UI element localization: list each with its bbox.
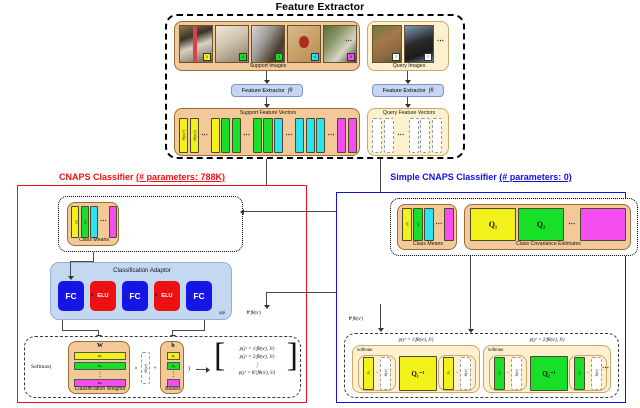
vector-ellipsis: ⋯ bbox=[327, 132, 336, 139]
connector-cov-down bbox=[470, 256, 471, 330]
support-image: 3 bbox=[251, 25, 285, 63]
query-vector-bar bbox=[372, 118, 382, 153]
feature-token: fθ(xᵗ) bbox=[511, 357, 522, 390]
left-class-means-caption: Class Means bbox=[68, 238, 120, 243]
mean-token: μ₂ bbox=[574, 357, 585, 390]
weight-row: w₁ bbox=[74, 352, 126, 360]
query-images-box: ? ? ⋯ Query Images bbox=[367, 21, 449, 71]
support-images-box: 1 2 3 4 5 ⋯ Support Images bbox=[174, 21, 360, 71]
bias-title: b bbox=[161, 343, 185, 349]
left-panel-title: CNAPS Classifier (# parameters: 788K) bbox=[17, 172, 267, 182]
classification-adaptor: Classification Adaptor ψϕ FC ELU FC ELU … bbox=[50, 262, 232, 320]
support-image: 4 bbox=[287, 25, 321, 63]
right-panel-title-params: (# parameters: 0) bbox=[499, 172, 572, 182]
probability-entry: p(yᵗ = 1|fθ(xᵗ), Sᵗ) bbox=[222, 347, 292, 352]
class-mean-ellipsis: ⋯ bbox=[435, 221, 443, 228]
query-vector-bar bbox=[420, 118, 430, 153]
probability-entry: p(yᵗ = Kᵗ|fθ(xᵗ), Sᵗ) bbox=[222, 371, 292, 376]
support-images-ellipsis: ⋯ bbox=[345, 38, 353, 45]
mean-token-label: μ₂ bbox=[577, 371, 581, 374]
weight-row: w₂ bbox=[74, 362, 126, 370]
class-mean-symbol: μ₂ bbox=[82, 220, 87, 224]
head-term-right: μ₂ − fθ(xᵗ) bbox=[569, 355, 607, 391]
support-vector-bar bbox=[263, 118, 272, 153]
left-probability-vector: [ ] p(yᵗ = 1|fθ(xᵗ), Sᵗ) p(yᵗ = 2|fθ(xᵗ)… bbox=[214, 344, 298, 392]
support-vector-bar bbox=[232, 118, 241, 153]
covariance-matrix bbox=[580, 208, 626, 241]
mean-token-label: μ₁ bbox=[446, 371, 450, 374]
right-head-block: softmax μ₂ − fθ(xᵗ) Q₂⁻¹ μ₂ − fθ(xᵗ) bbox=[483, 345, 611, 393]
query-images-caption: Query Images bbox=[368, 64, 450, 69]
query-vector-bar bbox=[384, 118, 394, 153]
minus-operator: − bbox=[375, 371, 378, 376]
query-feature-vectors-box: Query Feature Vectors ⋯ bbox=[367, 108, 449, 156]
right-class-means-caption: Class Means bbox=[398, 242, 458, 247]
right-panel-title-main: Simple CNAPS Classifier bbox=[390, 172, 499, 182]
mean-token: μ₁ bbox=[363, 357, 374, 390]
mean-token: μ₁ bbox=[443, 357, 454, 390]
support-vector-bar bbox=[295, 118, 304, 153]
mean-token-label: μ₂ bbox=[497, 371, 501, 374]
mean-token: μ₂ bbox=[494, 357, 505, 390]
softmax-close-paren: ) bbox=[188, 366, 190, 372]
left-softmax-label: Softmax( bbox=[31, 364, 51, 370]
query-feature-token-label: fθ(xᵗ) bbox=[143, 364, 148, 373]
left-panel-title-params: (# parameters: 788K) bbox=[136, 172, 225, 182]
right-head-equation: p(yᵗ = 1|fθ(xᵗ), Sᵗ) bbox=[356, 338, 476, 343]
right-class-means-box: μ₁ μ₂ ⋯ Class Means bbox=[397, 204, 457, 250]
biases-caption: Biases bbox=[161, 387, 185, 392]
support-vector-bar bbox=[253, 118, 262, 153]
support-feature-extractor-symbol: fθ bbox=[288, 88, 293, 94]
query-vector-bar bbox=[409, 118, 419, 153]
right-panel-title: Simple CNAPS Classifier (# parameters: 0… bbox=[336, 172, 626, 182]
support-feature-extractor-box: Feature Extractor fθ bbox=[231, 84, 303, 97]
minus-operator: − bbox=[506, 371, 509, 376]
support-feature-extractor-label: Feature Extractor bbox=[242, 88, 285, 94]
figure-title: Feature Extractor bbox=[0, 1, 640, 13]
support-vector-bar bbox=[221, 118, 230, 153]
query-image-badge: ? bbox=[424, 53, 432, 61]
support-vector-bar: fθ(x₂ˢ) bbox=[190, 118, 199, 153]
class-mean-symbol: μ₁ bbox=[404, 222, 409, 225]
right-forall-label: ∀ fθ(xᵗ) bbox=[348, 316, 363, 322]
support-vector-label: fθ(x₁ˢ) bbox=[181, 130, 186, 141]
query-vector-bar bbox=[432, 118, 442, 153]
weights-title: W bbox=[69, 343, 131, 349]
classification-adaptor-label: Classification Adaptor bbox=[51, 268, 233, 274]
class-mean-symbol: μ₁ bbox=[73, 220, 78, 223]
covariance-ellipsis: ⋯ bbox=[566, 221, 578, 228]
support-vector-bar bbox=[316, 118, 325, 153]
support-image: 2 bbox=[215, 25, 249, 63]
class-mean-bar bbox=[90, 206, 98, 238]
class-mean-ellipsis: ⋯ bbox=[100, 218, 108, 225]
support-image-badge: 4 bbox=[311, 53, 319, 61]
adaptor-fc-block: FC bbox=[58, 281, 84, 311]
class-mean-bar: μ₁ bbox=[402, 208, 412, 241]
query-feature-extractor-label: Feature Extractor bbox=[383, 88, 426, 94]
support-vector-bar: fθ(x₁ˢ) bbox=[179, 118, 188, 153]
query-feature-token: fθ(xᵗ) bbox=[141, 352, 150, 384]
support-images-caption: Support Images bbox=[175, 64, 361, 69]
class-mean-symbol: μ₂ bbox=[415, 222, 420, 226]
class-mean-bar: μ₁ bbox=[71, 206, 79, 238]
query-image: ? bbox=[404, 25, 434, 63]
covariance-matrix: Q₂ bbox=[518, 208, 564, 241]
class-mean-bar bbox=[109, 206, 117, 238]
bias-row: b₁ bbox=[167, 352, 180, 360]
probability-entry: p(yᵗ = 2|fθ(xᵗ), Sᵗ) bbox=[222, 355, 292, 360]
feature-token: fθ(xᵗ) bbox=[380, 357, 391, 390]
head-term-left: μ₂ − fθ(xᵗ) bbox=[489, 355, 527, 391]
support-vector-bar bbox=[337, 118, 346, 153]
support-vector-bar bbox=[348, 118, 357, 153]
head-term-left: μ₁ − fθ(xᵗ) bbox=[358, 355, 396, 391]
mean-token-label: μ₁ bbox=[366, 371, 370, 374]
class-covariance-box: Q₁ Q₂ ⋯ Class Covariance Estimates bbox=[464, 204, 631, 250]
feature-token: fθ(xᵗ) bbox=[591, 357, 602, 390]
class-covariance-caption: Class Covariance Estimates bbox=[465, 242, 632, 247]
class-mean-bar: μ₂ bbox=[413, 208, 423, 241]
classification-weights-box: W w₁ w₂ ⋮ wₖ Classification Weights bbox=[68, 341, 130, 394]
class-mean-bar: μ₂ bbox=[81, 206, 89, 238]
head-term-right: μ₁ − fθ(xᵗ) bbox=[438, 355, 476, 391]
query-image: ? bbox=[372, 25, 402, 63]
query-images-ellipsis: ⋯ bbox=[437, 38, 445, 45]
feature-token: fθ(xᵗ) bbox=[460, 357, 471, 390]
support-vector-bar bbox=[306, 118, 315, 153]
support-vector-bar bbox=[211, 118, 220, 153]
right-softmax-label: softmax bbox=[488, 348, 514, 352]
bias-row: b₂ bbox=[167, 362, 180, 370]
class-mean-bar bbox=[444, 208, 454, 241]
adaptor-symbol: ψϕ bbox=[219, 311, 225, 316]
support-image-badge: 2 bbox=[239, 53, 247, 61]
plus-operator: + bbox=[153, 366, 157, 372]
times-operator: × bbox=[134, 366, 138, 372]
support-vector-bar bbox=[274, 118, 283, 153]
query-feature-extractor-box: Feature Extractor fθ bbox=[372, 84, 444, 97]
support-feature-vectors-box: Support Feature Vectors fθ(x₁ˢ) fθ(x₂ˢ) … bbox=[174, 108, 360, 156]
inverse-covariance: Q₂⁻¹ bbox=[530, 356, 568, 391]
right-head-equation: p(yᵗ = 2|fθ(xᵗ), Sᵗ) bbox=[487, 338, 607, 343]
query-feature-extractor-symbol: fθ bbox=[429, 88, 434, 94]
minus-operator: − bbox=[455, 371, 458, 376]
support-image-badge: 1 bbox=[203, 53, 211, 61]
support-image-badge: 3 bbox=[275, 53, 283, 61]
left-forall-label: ∀ fθ(xᵗ) bbox=[246, 310, 261, 316]
feature-token-label: fθ(xᵗ) bbox=[464, 369, 468, 376]
right-softmax-label: softmax bbox=[357, 348, 383, 352]
support-vector-label: fθ(x₂ˢ) bbox=[192, 130, 197, 141]
covariance-matrix: Q₁ bbox=[470, 208, 516, 241]
left-class-means-box: μ₁ μ₂ ⋯ Class Means bbox=[67, 202, 119, 246]
vector-ellipsis: ⋯ bbox=[395, 132, 407, 139]
feature-token-label: fθ(xᵗ) bbox=[384, 369, 388, 376]
support-image: 1 bbox=[179, 25, 213, 63]
vector-ellipsis: ⋯ bbox=[285, 132, 294, 139]
probability-ellipsis: ⋮ bbox=[222, 362, 292, 369]
right-heads-ellipsis: ⋯ bbox=[602, 365, 610, 372]
left-panel-title-main: CNAPS Classifier bbox=[59, 172, 136, 182]
class-mean-bar bbox=[424, 208, 434, 241]
query-image-badge: ? bbox=[392, 53, 400, 61]
inverse-covariance: Q₁⁻¹ bbox=[399, 356, 437, 391]
support-feature-vectors-caption: Support Feature Vectors bbox=[175, 111, 361, 116]
query-feature-vectors-caption: Query Feature Vectors bbox=[368, 111, 450, 116]
support-image-badge: 5 bbox=[347, 53, 355, 61]
vector-ellipsis: ⋯ bbox=[243, 132, 252, 139]
biases-box: b b₁ b₂ ⋮ Biases bbox=[160, 341, 184, 394]
feature-token-label: fθ(xᵗ) bbox=[595, 369, 599, 376]
classification-weights-caption: Classification Weights bbox=[69, 387, 131, 392]
vector-ellipsis: ⋯ bbox=[200, 132, 209, 139]
minus-operator: − bbox=[586, 371, 589, 376]
right-head-block: softmax μ₁ − fθ(xᵗ) Q₁⁻¹ μ₁ − fθ(xᵗ) bbox=[352, 345, 480, 393]
feature-token-label: fθ(xᵗ) bbox=[515, 369, 519, 376]
